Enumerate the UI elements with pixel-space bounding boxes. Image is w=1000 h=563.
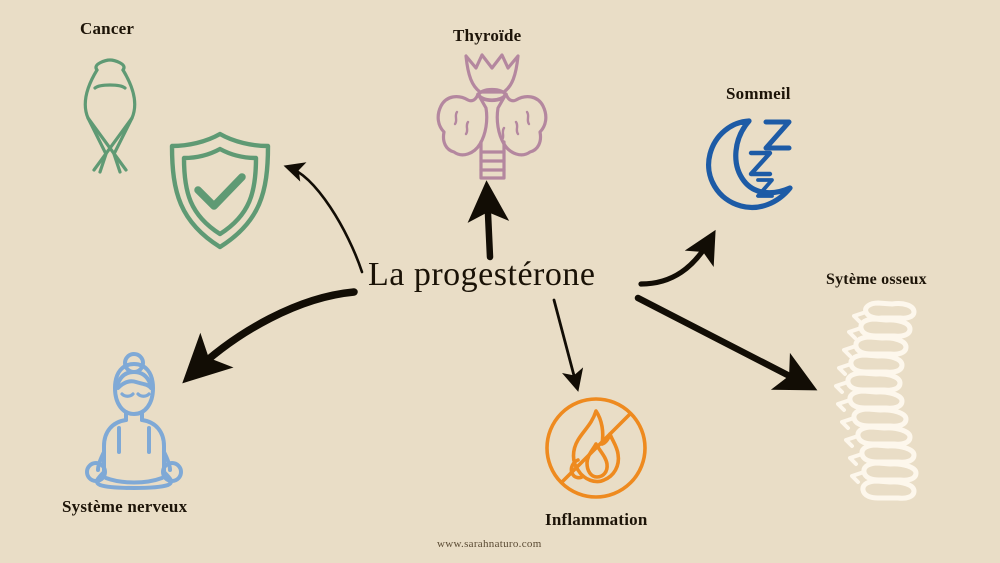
shield-check-icon — [162, 130, 278, 252]
footer-website-url[interactable]: www.sarahnaturo.com — [437, 538, 542, 550]
arrow-to-thyroide — [487, 192, 490, 257]
label-thyroide: Thyroïde — [453, 26, 521, 46]
arrow-to-cancer — [288, 167, 362, 272]
no-flame-icon — [540, 392, 652, 504]
crescent-moon-zzz-icon — [694, 110, 814, 228]
thyroid-gland-icon — [424, 50, 560, 184]
label-systeme-osseux: Sytème osseux — [826, 271, 927, 289]
arrow-to-systeme-osseux — [638, 298, 807, 385]
arrow-to-sommeil — [641, 238, 711, 284]
label-cancer: Cancer — [80, 19, 134, 39]
label-inflammation: Inflammation — [545, 510, 648, 530]
arrow-to-systeme-nerveux — [192, 292, 354, 374]
label-systeme-nerveux: Système nerveux — [62, 497, 187, 517]
spine-vertebrae-icon — [820, 298, 932, 510]
meditating-person-icon — [78, 352, 190, 488]
awareness-ribbon-icon — [62, 58, 158, 176]
label-sommeil: Sommeil — [726, 84, 791, 104]
infographic-canvas: La progestérone Cancer Thyroïde — [0, 0, 1000, 563]
arrow-to-inflammation — [554, 300, 577, 387]
center-title: La progestérone — [368, 256, 595, 294]
